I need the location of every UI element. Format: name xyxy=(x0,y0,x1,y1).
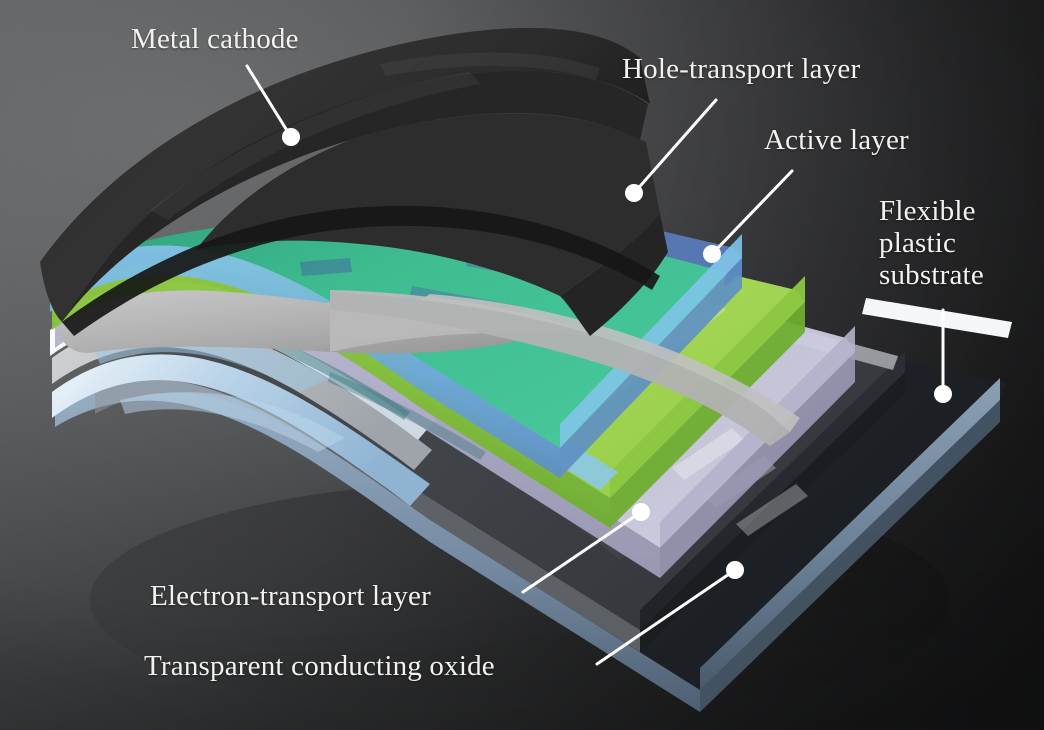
callout-dot-active-layer xyxy=(703,245,721,263)
callout-dot-flexible-plastic-substrate xyxy=(934,385,952,403)
callout-dot-transparent-conducting-oxide xyxy=(726,561,744,579)
diagram-canvas: Metal cathode Hole-transport layer Activ… xyxy=(0,0,1044,730)
callout-dot-hole-transport-layer xyxy=(625,184,643,202)
callout-dot-electron-transport-layer xyxy=(632,503,650,521)
leader-active-layer xyxy=(703,171,792,263)
solar-cell-illustration xyxy=(0,0,1044,730)
substrate-edge-highlight xyxy=(862,298,1012,338)
callout-dot-metal-cathode xyxy=(282,128,300,146)
